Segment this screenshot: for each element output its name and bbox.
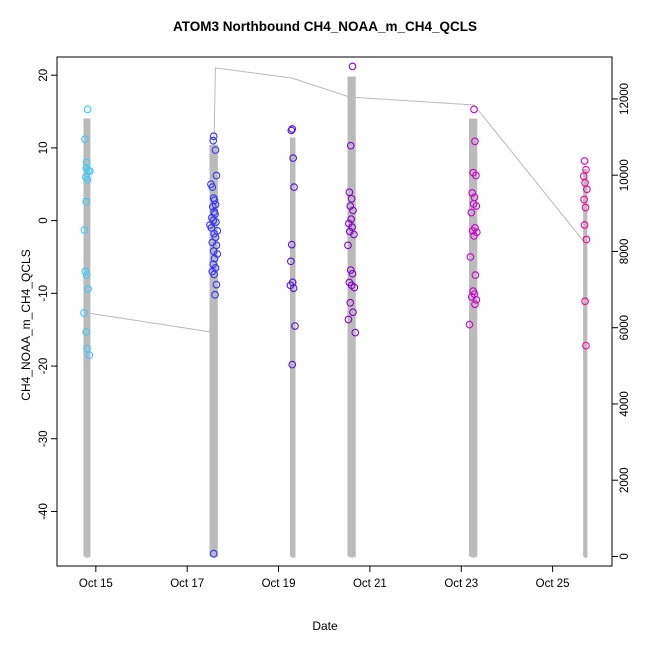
data-point (581, 158, 588, 165)
axis-tick-label: Oct 15 (79, 578, 113, 590)
axis-tick-label: -30 (38, 430, 50, 447)
y-axis-label-text: CH4_NOAA_m_CH4_QCLS (19, 249, 33, 400)
data-point (471, 106, 478, 113)
axis-tick-label: -40 (38, 503, 50, 520)
axis-tick-label: -20 (38, 358, 50, 375)
axis-tick-label: 10 (38, 141, 50, 154)
data-point (84, 106, 91, 113)
chart-root: ATOM3 Northbound CH4_NOAA_m_CH4_QCLS Oct… (0, 0, 650, 650)
axis-tick-label: 4000 (619, 391, 631, 417)
plot-border (57, 57, 612, 566)
plot-area: Oct 15Oct 17Oct 19Oct 21Oct 23Oct 25-40-… (0, 0, 650, 650)
connector-line (88, 68, 585, 332)
axis-tick-label: 8000 (619, 239, 631, 265)
axis-tick-label: Oct 19 (262, 578, 296, 590)
axis-tick-label: 6000 (619, 315, 631, 341)
y-axis-label: CH4_NOAA_m_CH4_QCLS (19, 174, 33, 325)
axis-tick-label: 0 (38, 217, 50, 223)
axis-tick-label: Oct 21 (353, 578, 387, 590)
axis-tick-label: 10000 (619, 159, 631, 191)
y-axis-left: -40-30-20-1001020 (38, 69, 57, 520)
data-point (210, 137, 217, 144)
vertical-drop-lines (84, 76, 587, 558)
y-axis-right: 020004000600080001000012000 (612, 83, 631, 560)
axis-tick-label: Oct 17 (170, 578, 204, 590)
axis-tick-label: Oct 25 (536, 578, 570, 590)
axis-tick-label: 2000 (619, 467, 631, 493)
axis-tick-label: 12000 (619, 83, 631, 115)
x-axis: Oct 15Oct 17Oct 19Oct 21Oct 23Oct 25 (79, 566, 570, 590)
axis-tick-label: 0 (619, 553, 631, 559)
axis-tick-label: 20 (38, 69, 50, 82)
x-axis-label: Date (0, 619, 650, 633)
axis-tick-label: Oct 23 (444, 578, 478, 590)
data-point (349, 63, 356, 70)
axis-tick-label: -10 (38, 285, 50, 302)
